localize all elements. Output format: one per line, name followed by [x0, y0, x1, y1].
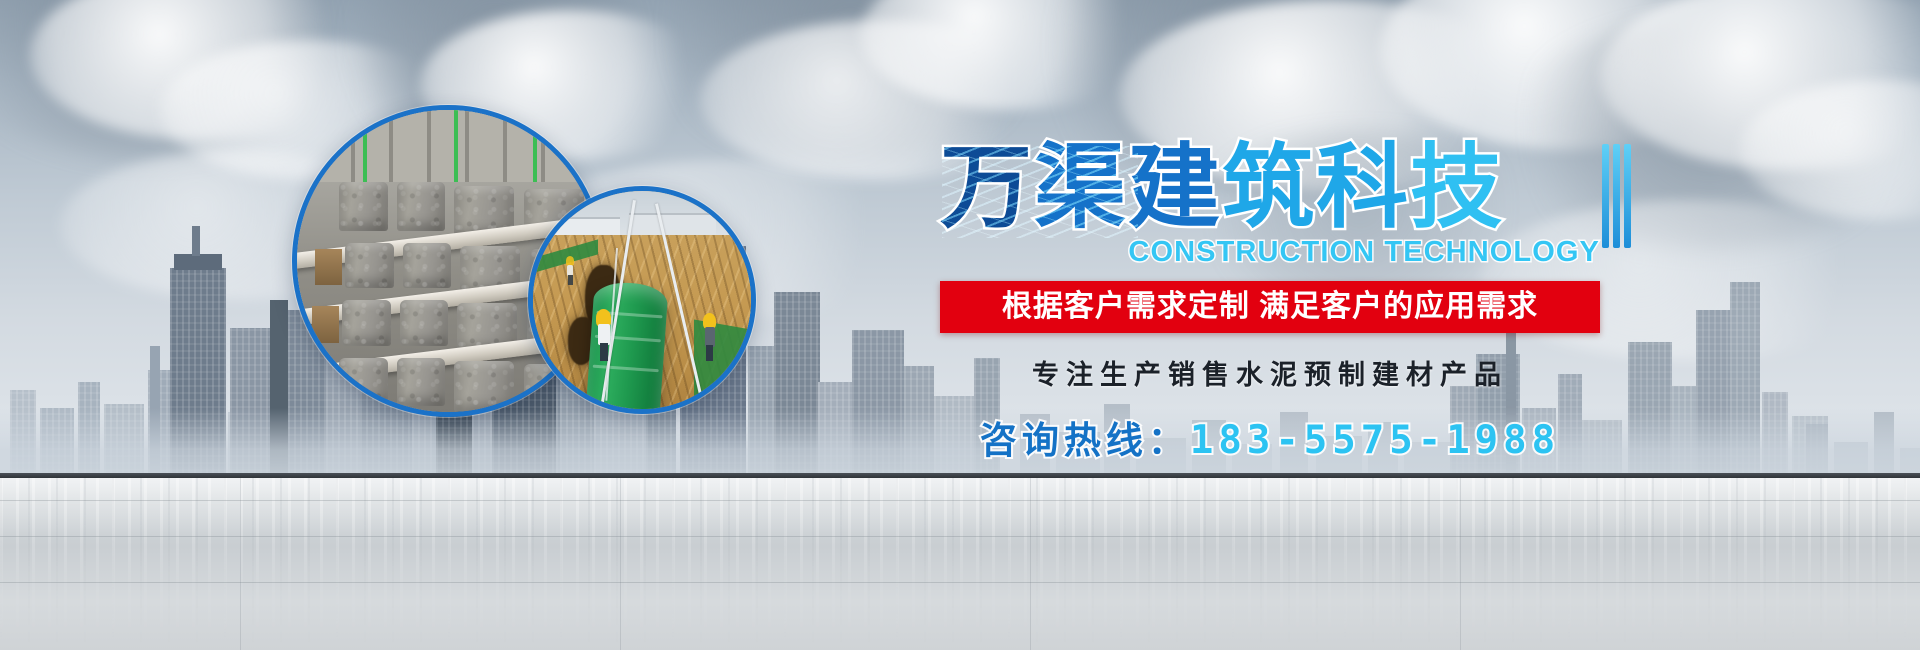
- brand-subtitle-english: CONSTRUCTION TECHNOLOGY: [940, 236, 1600, 269]
- photo-septic-tank-installation[interactable]: [528, 186, 756, 414]
- hotline-number[interactable]: 183-5575-1988: [1190, 418, 1560, 463]
- brand-char-2: 渠: [1034, 140, 1128, 236]
- worker-on-tank: [596, 309, 611, 361]
- excavation-illustration: [533, 191, 751, 409]
- brand-char-6: 技: [1410, 140, 1504, 236]
- brand-char-3: 建: [1128, 140, 1222, 236]
- brand-char-4: 筑: [1222, 140, 1316, 236]
- brand-char-1: 万: [940, 140, 1034, 236]
- tagline-text: 专注生产销售水泥预制建材产品: [940, 353, 1600, 392]
- worker-far-left: [566, 256, 575, 284]
- brand-title: 万渠建筑科技: [940, 140, 1600, 240]
- brand-char-5: 科: [1316, 140, 1410, 236]
- worker-standing-right: [703, 313, 716, 361]
- promo-banner: 万渠建筑科技 CONSTRUCTION TECHNOLOGY 根据客户需求定制 …: [0, 0, 1920, 650]
- red-slogan-banner: 根据客户需求定制 满足客户的应用需求: [940, 281, 1600, 333]
- title-vertical-bars-decoration: [1602, 144, 1636, 248]
- reflective-plaza-floor: [0, 478, 1920, 650]
- hotline-label: 咨询热线：: [980, 420, 1190, 461]
- hotline-row: 咨询热线：183-5575-1988: [940, 410, 1600, 464]
- banner-text-block: 万渠建筑科技 CONSTRUCTION TECHNOLOGY 根据客户需求定制 …: [940, 140, 1600, 464]
